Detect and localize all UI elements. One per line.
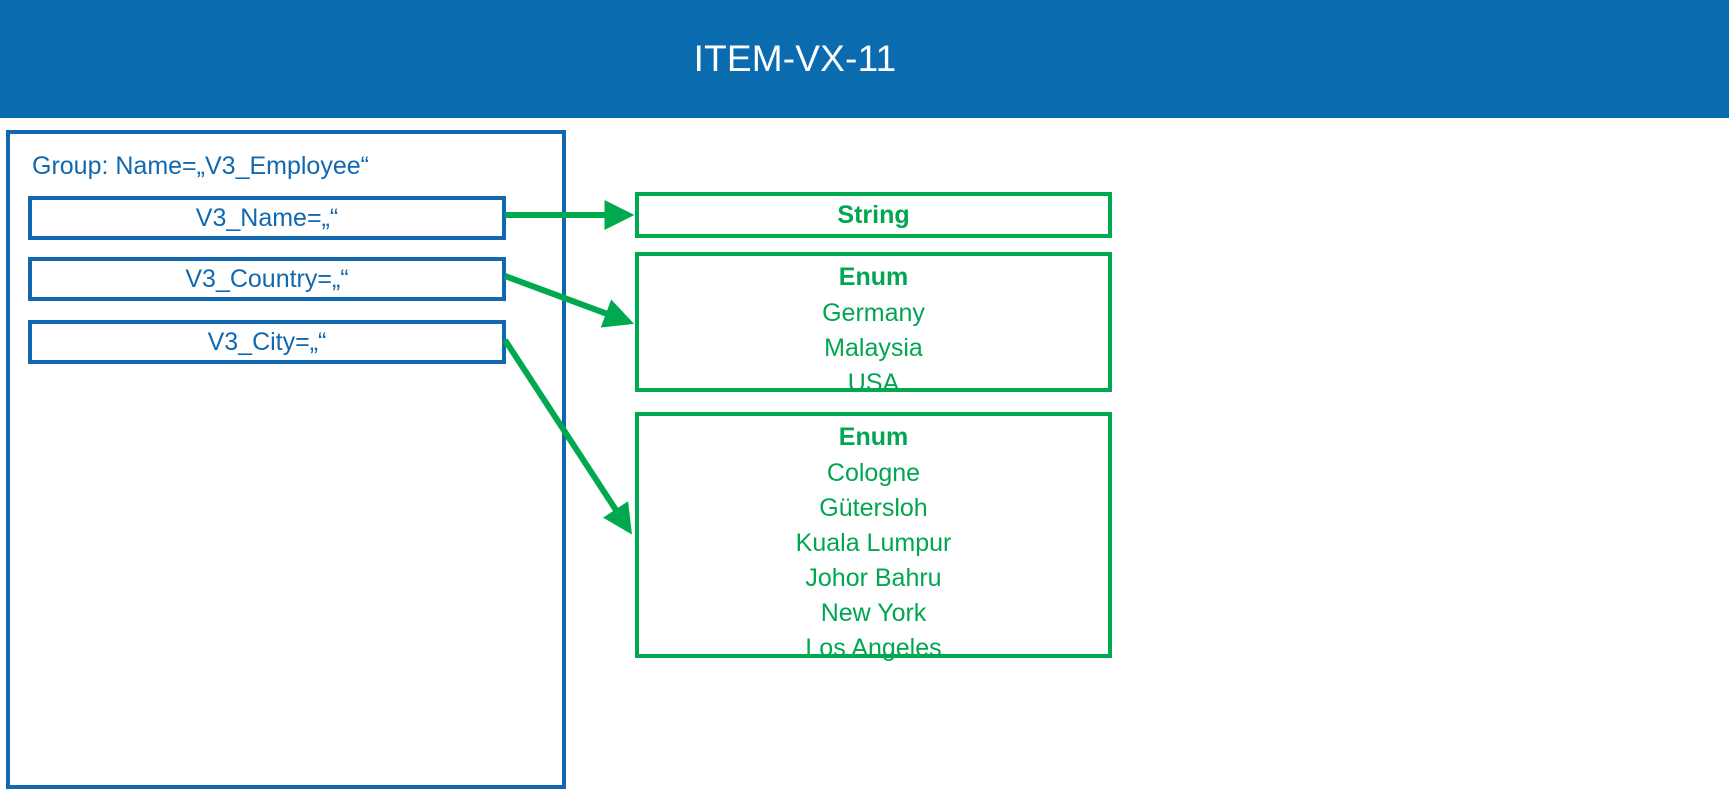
enum-value: Johor Bahru	[639, 561, 1108, 596]
enum-value: Gütersloh	[639, 491, 1108, 526]
enum-value: Germany	[639, 296, 1108, 331]
enum-value: Malaysia	[639, 331, 1108, 366]
group-container: Group: Name=„V3_Employee“ V3_Name=„“ V3_…	[6, 130, 566, 789]
enum-value: Los Angeles	[639, 631, 1108, 666]
diagram-page: ITEM-VX-11 Group: Name=„V3_Employee“ V3_…	[0, 0, 1729, 799]
type-box-title: Enum	[639, 258, 1108, 296]
type-box-enum-city: Enum Cologne Gütersloh Kuala Lumpur Joho…	[635, 412, 1112, 658]
type-box-title: Enum	[639, 418, 1108, 456]
field-box-v3-country[interactable]: V3_Country=„“	[28, 257, 506, 301]
page-title: ITEM-VX-11	[0, 0, 1590, 118]
enum-value: USA	[639, 366, 1108, 401]
enum-value: New York	[639, 596, 1108, 631]
group-label: Group: Name=„V3_Employee“	[32, 152, 369, 181]
enum-value: Kuala Lumpur	[639, 526, 1108, 561]
type-box-title: String	[639, 196, 1108, 234]
header-banner: ITEM-VX-11	[0, 0, 1729, 118]
type-box-string: String	[635, 192, 1112, 238]
type-box-enum-country: Enum Germany Malaysia USA	[635, 252, 1112, 392]
enum-value: Cologne	[639, 456, 1108, 491]
field-box-v3-city[interactable]: V3_City=„“	[28, 320, 506, 364]
field-box-v3-name[interactable]: V3_Name=„“	[28, 196, 506, 240]
